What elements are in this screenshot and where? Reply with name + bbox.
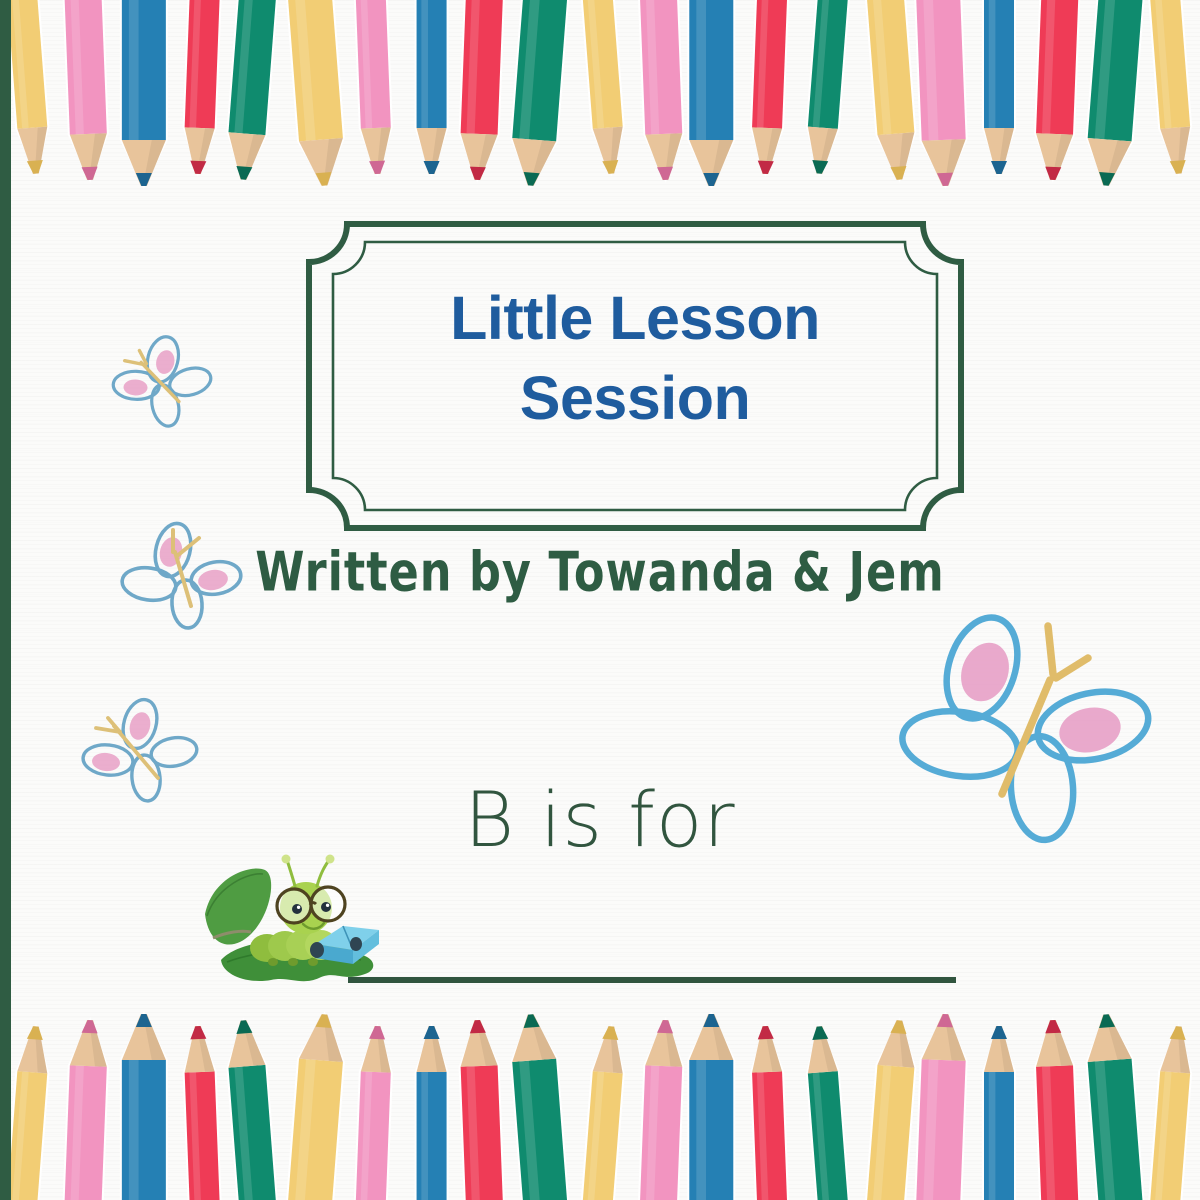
pencil-pink [914,0,970,190]
pencil-border-bottom [0,1000,1200,1200]
pencil-red [457,0,506,184]
pencil-teal [1082,0,1146,190]
pencil-red [181,1022,223,1200]
title-line-2: Session [305,358,965,438]
spine-strip [0,0,11,1200]
pencil-yellow [4,1022,53,1200]
pencil-blue [687,0,735,189]
pencil-teal [802,0,851,178]
pencil-teal [506,0,570,190]
prompt-text: B is for [0,775,1200,864]
pencil-blue [982,0,1016,177]
pencil-yellow [1147,0,1196,178]
pencil-blue [120,1011,168,1200]
pencil-yellow [1147,1022,1196,1200]
byline: Written by Towanda & Jem [18,540,1182,604]
pencil-pink [914,1010,970,1200]
pencil-yellow [579,0,628,178]
pencil-teal [223,1016,279,1200]
pencil-teal [802,1022,851,1200]
pencil-pink [353,0,395,178]
pencil-red [457,1016,506,1200]
pencil-yellow [285,1010,349,1200]
pencil-yellow [579,1022,628,1200]
fill-in-blank-line [348,977,956,983]
butterfly-icon [100,330,220,435]
pencil-blue [415,0,449,177]
pencil-pink [62,1016,111,1200]
pencil-yellow [864,0,920,184]
pencil-blue [982,1023,1016,1200]
pencil-pink [62,0,111,184]
pencil-red [748,1022,790,1200]
title-frame: Little Lesson Session [305,220,965,532]
pencil-red [181,0,223,178]
title-block: Little Lesson Session [305,278,965,438]
pencil-border-top [0,0,1200,200]
book-cover: Little Lesson Session Written by Towanda… [0,0,1200,1200]
pencil-pink [353,1022,395,1200]
pencil-red [748,0,790,178]
pencil-red [1032,1016,1081,1200]
pencil-blue [687,1011,735,1200]
title-line-1: Little Lesson [305,278,965,358]
colored-pencils-row-icon [0,0,1200,200]
pencil-yellow [285,0,349,190]
pencil-pink [637,1016,686,1200]
pencil-blue [120,0,168,189]
pencil-yellow [4,0,53,178]
pencil-teal [1082,1010,1146,1200]
colored-pencils-row-icon [0,1000,1200,1200]
pencil-teal [223,0,279,184]
pencil-pink [637,0,686,184]
pencil-red [1032,0,1081,184]
pencil-blue [415,1023,449,1200]
pencil-teal [506,1010,570,1200]
pencil-yellow [864,1016,920,1200]
